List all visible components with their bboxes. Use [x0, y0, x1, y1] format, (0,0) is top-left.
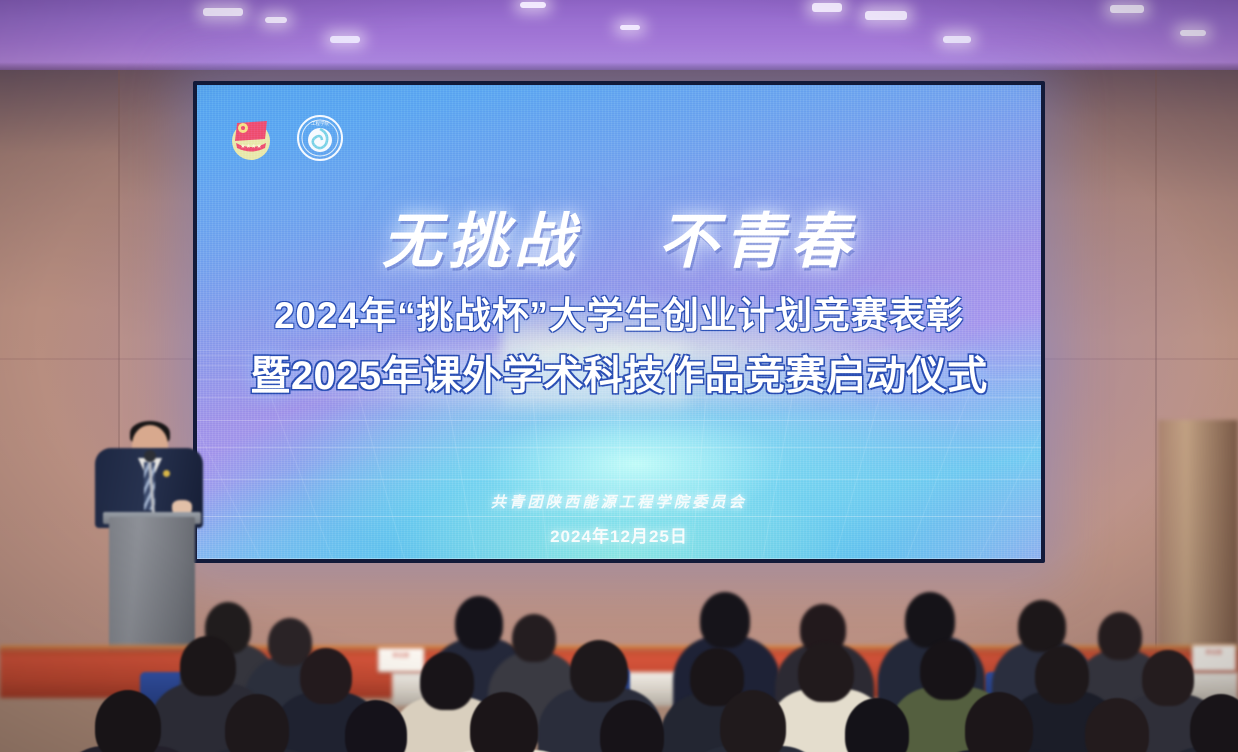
audience-member-head	[1035, 646, 1089, 704]
audience-member-head	[1018, 600, 1066, 652]
audience-member-head	[570, 640, 628, 702]
audience-member-head	[798, 642, 854, 702]
audience-member-head	[1142, 650, 1194, 706]
led-screen-bezel: ★★★★ 工程学院 无挑战 不青春	[193, 81, 1045, 563]
ceiling-light	[1180, 30, 1206, 36]
audience-member-head	[455, 596, 503, 650]
ceiling-light	[203, 8, 243, 16]
name-card-right: 参会席	[1192, 645, 1236, 671]
ceiling-light	[812, 3, 842, 12]
audience-member-head	[512, 614, 556, 662]
side-door-frame	[1158, 420, 1238, 670]
audience-member-head	[720, 690, 786, 752]
audience-member-head	[920, 640, 976, 700]
name-card-left-text: 参会席	[378, 652, 424, 659]
ceiling-light	[865, 11, 907, 20]
audience-member-head	[700, 592, 750, 648]
ceiling-light	[943, 36, 971, 43]
led-pixel-grain-overlay	[197, 85, 1041, 559]
ceiling-light	[520, 2, 546, 8]
photo-scene: ★★★★ 工程学院 无挑战 不青春	[0, 0, 1238, 752]
audience-member-head	[180, 636, 236, 696]
name-card-left: 参会席	[378, 648, 424, 672]
led-screen: ★★★★ 工程学院 无挑战 不青春	[197, 85, 1041, 559]
audience-member-head	[420, 652, 474, 710]
ceiling-light	[1110, 5, 1144, 13]
ceiling-light	[330, 36, 360, 43]
audience-member-head	[95, 690, 161, 752]
ceiling	[0, 0, 1238, 78]
speaker-lapel-pin	[163, 470, 170, 477]
audience-member-head	[300, 648, 352, 704]
ceiling-light	[620, 25, 640, 30]
audience-member-head	[1098, 612, 1142, 660]
ceiling-light	[265, 17, 287, 23]
audience-member-head	[345, 700, 407, 752]
left-wall-panel	[0, 70, 118, 670]
name-card-right-text: 参会席	[1192, 649, 1236, 656]
wall-seam-vertical-2	[1155, 70, 1157, 670]
microphone-head-icon	[144, 450, 156, 462]
